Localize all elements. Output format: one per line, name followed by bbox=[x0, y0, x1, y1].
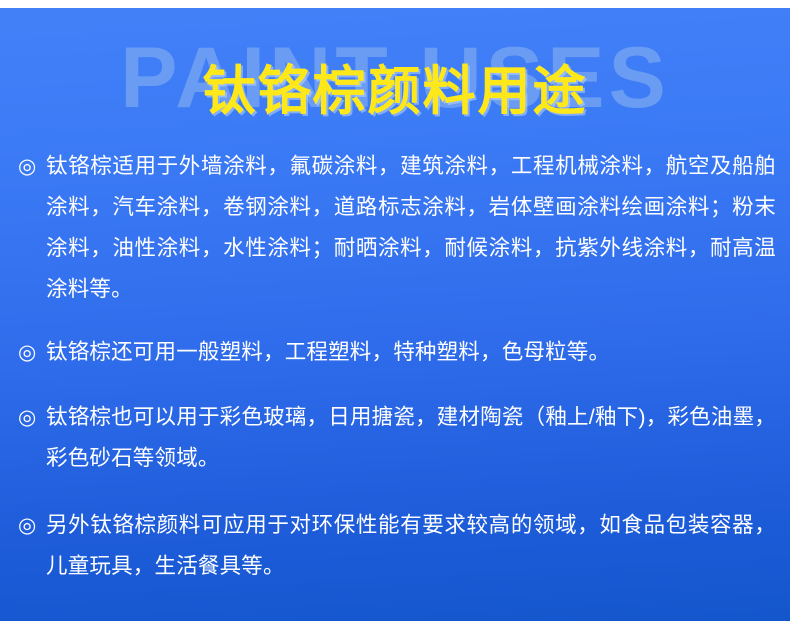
list-item-text: 钛铬棕也可以用于彩色玻璃，日用搪瓷，建材陶瓷（釉上/釉下)，彩色油墨，彩色砂石等… bbox=[46, 397, 776, 479]
page-title: 钛铬棕颜料用途 bbox=[0, 59, 790, 125]
paint-uses-banner: PAINT USES 钛铬棕颜料用途 ◎ 钛铬棕适用于外墙涂料，氟碳涂料，建筑涂… bbox=[0, 0, 790, 621]
double-circle-bullet-icon: ◎ bbox=[18, 146, 46, 187]
list-item: ◎ 钛铬棕也可以用于彩色玻璃，日用搪瓷，建材陶瓷（釉上/釉下)，彩色油墨，彩色砂… bbox=[0, 397, 790, 479]
list-item-text: 另外钛铬棕颜料可应用于对环保性能有要求较高的领域，如食品包装容器，儿童玩具，生活… bbox=[46, 505, 776, 587]
top-white-strip bbox=[0, 0, 790, 8]
list-item: ◎ 钛铬棕适用于外墙涂料，氟碳涂料，建筑涂料，工程机械涂料，航空及船舶涂料，汽车… bbox=[0, 146, 790, 310]
double-circle-bullet-icon: ◎ bbox=[18, 397, 46, 438]
double-circle-bullet-icon: ◎ bbox=[18, 505, 46, 546]
list-item-text: 钛铬棕适用于外墙涂料，氟碳涂料，建筑涂料，工程机械涂料，航空及船舶涂料，汽车涂料… bbox=[46, 146, 776, 310]
list-item: ◎ 钛铬棕还可用一般塑料，工程塑料，特种塑料，色母粒等。 bbox=[0, 332, 790, 373]
bullet-list: ◎ 钛铬棕适用于外墙涂料，氟碳涂料，建筑涂料，工程机械涂料，航空及船舶涂料，汽车… bbox=[0, 146, 790, 587]
list-item-text: 钛铬棕还可用一般塑料，工程塑料，特种塑料，色母粒等。 bbox=[46, 332, 776, 373]
list-item: ◎ 另外钛铬棕颜料可应用于对环保性能有要求较高的领域，如食品包装容器，儿童玩具，… bbox=[0, 505, 790, 587]
double-circle-bullet-icon: ◎ bbox=[18, 332, 46, 373]
